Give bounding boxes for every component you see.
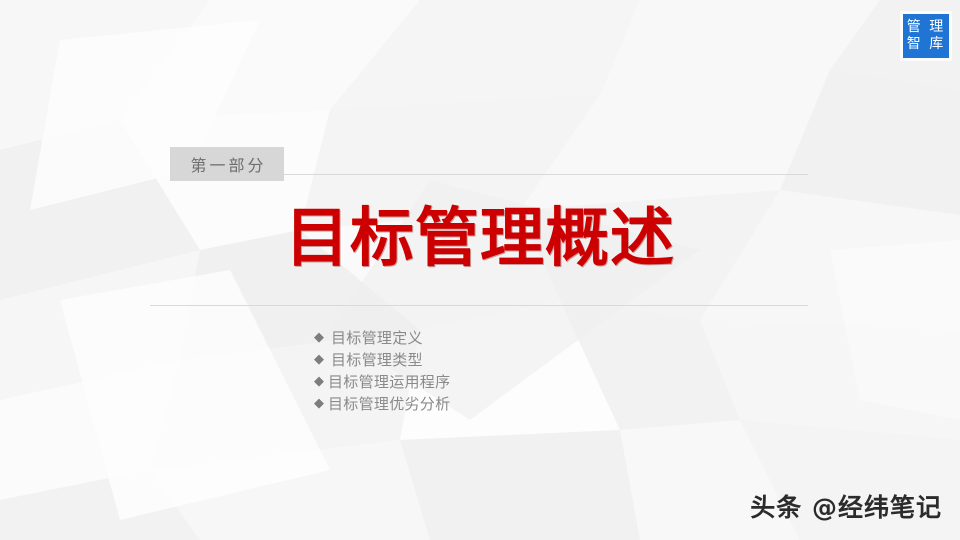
list-item: ◆ 目标管理类型 bbox=[314, 349, 674, 370]
list-item-label: 目标管理定义 bbox=[331, 327, 423, 348]
slide-canvas: 管 理 智 库 第一部分 目标管理概述 ◆ 目标管理定义 ◆ 目标管理类型 ◆ … bbox=[0, 0, 960, 540]
divider-line-bottom bbox=[150, 305, 808, 306]
watermark: 头条 @经纬笔记 bbox=[750, 488, 942, 524]
list-item-label: 目标管理类型 bbox=[331, 349, 423, 370]
list-item: ◆ 目标管理定义 bbox=[314, 327, 674, 348]
logo-line-2: 智 库 bbox=[903, 36, 949, 53]
diamond-bullet-icon: ◆ bbox=[314, 331, 324, 344]
list-item-label: 目标管理运用程序 bbox=[328, 371, 450, 392]
diamond-bullet-icon: ◆ bbox=[314, 353, 324, 366]
brand-logo: 管 理 智 库 bbox=[903, 14, 949, 58]
divider-line-top bbox=[284, 174, 808, 175]
list-item: ◆ 目标管理优劣分析 bbox=[314, 393, 674, 414]
page-title: 目标管理概述 bbox=[0, 196, 960, 282]
agenda-list: ◆ 目标管理定义 ◆ 目标管理类型 ◆ 目标管理运用程序 ◆ 目标管理优劣分析 bbox=[314, 327, 674, 415]
list-item: ◆ 目标管理运用程序 bbox=[314, 371, 674, 392]
diamond-bullet-icon: ◆ bbox=[314, 375, 324, 388]
section-tag-label: 第一部分 bbox=[187, 152, 266, 176]
list-item-label: 目标管理优劣分析 bbox=[328, 393, 450, 414]
section-tag: 第一部分 bbox=[170, 147, 284, 181]
logo-line-1: 管 理 bbox=[903, 19, 949, 36]
diamond-bullet-icon: ◆ bbox=[314, 397, 324, 410]
